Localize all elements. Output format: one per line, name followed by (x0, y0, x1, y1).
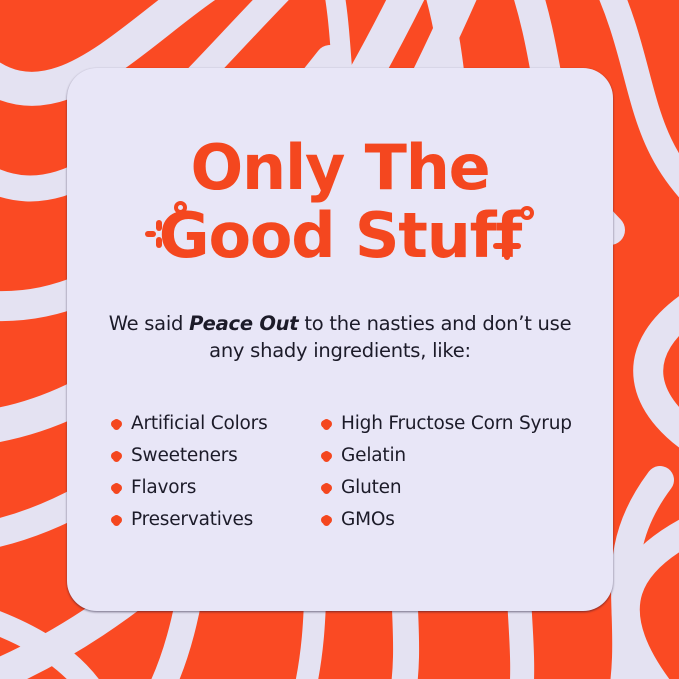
list-item: GMOs (321, 504, 591, 536)
list-item-label: Sweeteners (131, 445, 238, 467)
marketing-graphic: Only The Good Stuff We said Peace Out to… (0, 0, 679, 679)
ingredient-list-left: Artificial Colors Sweeteners Flavors Pre… (111, 408, 321, 536)
subtitle: We said Peace Out to the nasties and don… (89, 310, 591, 364)
content-card: Only The Good Stuff We said Peace Out to… (67, 68, 613, 611)
list-item: High Fructose Corn Syrup (321, 408, 591, 440)
title-line-2: Good Stuff (67, 202, 613, 270)
list-item: Artificial Colors (111, 408, 321, 440)
bullet-icon (321, 419, 332, 430)
avoided-ingredients-lists: Artificial Colors Sweeteners Flavors Pre… (111, 408, 591, 536)
bullet-icon (321, 451, 332, 462)
list-item-label: Gluten (341, 477, 401, 499)
bullet-icon (321, 483, 332, 494)
bullet-icon (111, 515, 122, 526)
list-item: Preservatives (111, 504, 321, 536)
list-item-label: Gelatin (341, 445, 406, 467)
list-item: Gluten (321, 472, 591, 504)
list-item-label: Artificial Colors (131, 413, 268, 435)
subtitle-before: We said (109, 312, 189, 335)
list-item: Flavors (111, 472, 321, 504)
bullet-icon (111, 451, 122, 462)
list-item-label: Preservatives (131, 509, 253, 531)
list-item: Gelatin (321, 440, 591, 472)
bullet-icon (321, 515, 332, 526)
bullet-icon (111, 419, 122, 430)
title-line-1: Only The (191, 131, 490, 204)
subtitle-emphasis: Peace Out (189, 312, 298, 335)
bullet-icon (111, 483, 122, 494)
list-item-label: GMOs (341, 509, 395, 531)
list-item: Sweeteners (111, 440, 321, 472)
list-item-label: High Fructose Corn Syrup (341, 413, 572, 435)
list-item-label: Flavors (131, 477, 196, 499)
page-title: Only The Good Stuff (67, 134, 613, 270)
ingredient-list-right: High Fructose Corn Syrup Gelatin Gluten … (321, 408, 591, 536)
